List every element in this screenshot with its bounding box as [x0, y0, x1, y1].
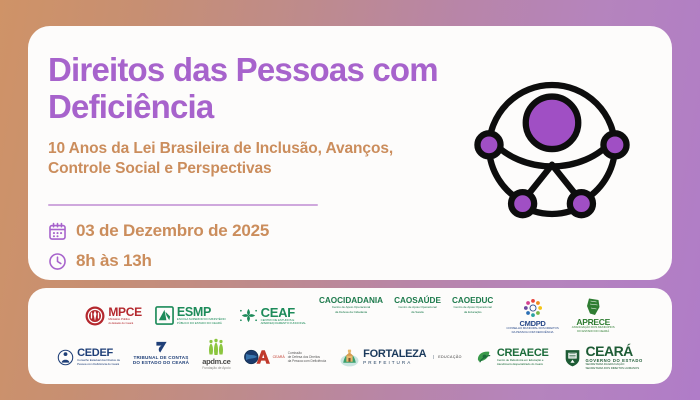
logo-ceara-sub3: SECRETARIA DOS DIREITOS HUMANOS: [586, 367, 643, 371]
logo-mpce-text: MPCE Ministério Público do Estado do Cea…: [108, 306, 141, 325]
logo-mpce-sub2: do Estado do Ceará: [108, 322, 141, 326]
logo-oab-text: CEARÁ: [273, 355, 285, 359]
logo-esmp-sub2: PÚBLICO DO ESTADO DO CEARÁ: [177, 322, 226, 326]
creaece-leaf-icon: [475, 348, 494, 367]
logo-caocidadania-sub2: da Defesa da Cidadania: [335, 311, 367, 315]
logo-esmp: ESMP ESCOLA SUPERIOR DO MINISTÉRIO PÚBLI…: [155, 297, 226, 335]
esmp-book-icon: [155, 306, 174, 325]
logo-oab-sub1: CEARÁ: [273, 355, 285, 359]
logo-tce-name2: DO ESTADO DO CEARÁ: [133, 361, 189, 366]
logo-apdm-sub1: Fundação de Apoio: [202, 366, 230, 370]
subtitle-line-2: Controle Social e Perspectivas: [48, 159, 468, 179]
event-date: 03 de Dezembro de 2025: [76, 221, 269, 241]
logo-fortaleza: FORTALEZA PREFEITURA EDUCAÇÃO: [339, 338, 462, 376]
logo-caocidadania: CAOCIDADANIA Centro de Apoio Operacional…: [319, 297, 383, 335]
divider: [48, 204, 318, 206]
title-line-2: Deficiência: [48, 89, 468, 126]
logo-ceaf-sub2: APERFEIÇOAMENTO FUNCIONAL: [261, 322, 306, 326]
event-subtitle: 10 Anos da Lei Brasileira de Inclusão, A…: [48, 139, 468, 180]
logo-fortaleza-name: FORTALEZA: [363, 349, 426, 360]
logo-caocidadania-name: CAOCIDADANIA: [319, 297, 383, 305]
logo-apdm: apdm.ce Fundação de Apoio: [202, 338, 230, 376]
title-line-1: Direitos das Pessoas com: [48, 52, 468, 89]
logo-ceaf: CEAF CENTRO DE ESTUDOS E APERFEIÇOAMENTO…: [239, 297, 306, 335]
logo-creaece-text: CREAECE Centro de Referência em Educação…: [497, 348, 549, 366]
logo-creaece: CREAECE Centro de Referência em Educação…: [475, 338, 549, 376]
logo-creaece-sub2: Atendimento Especializado do Ceará: [497, 363, 549, 367]
calendar-icon: [48, 222, 67, 241]
event-date-row: 03 de Dezembro de 2025: [48, 216, 269, 246]
logo-oab: CEARÁ Comissão de Defesa dos Direitos da…: [244, 338, 327, 376]
logo-cmdpd: CMDPD CONSELHO MUNICIPAL DOS DIREITOS DA…: [506, 297, 558, 335]
logo-fortaleza-educacao: EDUCAÇÃO: [433, 355, 462, 359]
cmdpd-flower-icon: [522, 297, 544, 319]
logo-caoeduc-sub2: da Educação: [464, 311, 482, 315]
logo-fortaleza-text: FORTALEZA PREFEITURA: [363, 349, 426, 366]
cedef-icon: [57, 349, 74, 366]
page-title: Direitos das Pessoas com Deficiência: [48, 52, 468, 126]
fortaleza-crest-icon: [339, 347, 360, 368]
event-meta-list: 03 de Dezembro de 2025 8h às 13h: [48, 216, 269, 276]
logo-cedef-sub2: Pessoa com Deficiência do Ceará: [77, 363, 120, 367]
logo-ceara: CEARÁ GOVERNO DO ESTADO SECRETARIA DA ED…: [562, 338, 643, 376]
logo-cmdpd-text: CMDPD CONSELHO MUNICIPAL DOS DIREITOS DA…: [506, 320, 558, 335]
logo-mpce: MPCE Ministério Público do Estado do Cea…: [85, 297, 141, 335]
event-time-row: 8h às 13h: [48, 246, 269, 276]
tce-seven-icon: [153, 338, 170, 355]
cao-logo-group: CAOCIDADANIA Centro de Apoio Operacional…: [319, 297, 493, 335]
logo-cedef: CEDEF Conselho Estadual dos Direitos da …: [57, 338, 120, 376]
logo-ceara-name: CEARÁ: [586, 344, 643, 358]
logo-ceaf-name: CEAF: [261, 306, 306, 319]
clock-icon: [48, 252, 67, 271]
logo-aprece: APRECE ASSOCIAÇÃO DOS MUNICÍPIOS DO ESTA…: [572, 297, 615, 335]
ceaf-star-icon: [239, 306, 258, 325]
logo-apdm-text: apdm.ce Fundação de Apoio: [202, 358, 230, 370]
oab-globe-icon: [244, 346, 270, 368]
logo-fortaleza-sub1: PREFEITURA: [363, 360, 426, 366]
logo-aprece-sub2: DO ESTADO DO CEARÁ: [577, 330, 609, 334]
main-content-card: Direitos das Pessoas com Deficiência 10 …: [28, 26, 672, 280]
logo-caosaude-name: CAOSAÚDE: [394, 297, 441, 305]
subtitle-line-1: 10 Anos da Lei Brasileira de Inclusão, A…: [48, 139, 468, 159]
aprece-map-icon: [583, 297, 603, 317]
logo-ceara-text: CEARÁ GOVERNO DO ESTADO SECRETARIA DA ED…: [586, 344, 643, 371]
ceara-crest-icon: [562, 347, 583, 368]
logo-caoeduc-name: CAOEDUC: [452, 297, 493, 305]
logo-row-2: CEDEF Conselho Estadual dos Direitos da …: [38, 337, 662, 377]
event-banner: Direitos das Pessoas com Deficiência 10 …: [0, 0, 700, 400]
logo-apdm-name: apdm.ce: [202, 358, 230, 366]
network-nodes-icon: [468, 64, 636, 232]
apdm-people-icon: [206, 338, 226, 357]
logo-caosaude-sub2: da Saúde: [411, 311, 424, 315]
logo-cmdpd-sub2: DA PESSOA COM DEFICIÊNCIA: [512, 331, 554, 335]
logo-aprece-text: APRECE ASSOCIAÇÃO DOS MUNICÍPIOS DO ESTA…: [572, 318, 615, 334]
logo-esmp-text: ESMP ESCOLA SUPERIOR DO MINISTÉRIO PÚBLI…: [177, 306, 226, 326]
logo-caoeduc: CAOEDUC Centro de Apoio Operacional da E…: [452, 297, 493, 335]
logo-row-1: MPCE Ministério Público do Estado do Cea…: [38, 296, 662, 336]
logo-ceaf-text: CEAF CENTRO DE ESTUDOS E APERFEIÇOAMENTO…: [261, 306, 306, 326]
sponsor-logo-bar: MPCE Ministério Público do Estado do Cea…: [28, 288, 672, 384]
logo-tce-text: TRIBUNAL DE CONTAS DO ESTADO DO CEARÁ: [133, 356, 189, 365]
logo-cedef-text: CEDEF Conselho Estadual dos Direitos da …: [77, 348, 120, 366]
event-time: 8h às 13h: [76, 251, 152, 271]
title-block: Direitos das Pessoas com Deficiência 10 …: [48, 52, 468, 180]
logo-oab-desc3: da Pessoa com Deficiência: [288, 359, 326, 363]
logo-oab-description: Comissão de Defesa dos Direitos da Pesso…: [288, 351, 326, 363]
logo-tce: TRIBUNAL DE CONTAS DO ESTADO DO CEARÁ: [133, 338, 189, 376]
logo-caosaude: CAOSAÚDE Centro de Apoio Operacional da …: [394, 297, 441, 335]
mpce-crest-icon: [85, 306, 105, 326]
